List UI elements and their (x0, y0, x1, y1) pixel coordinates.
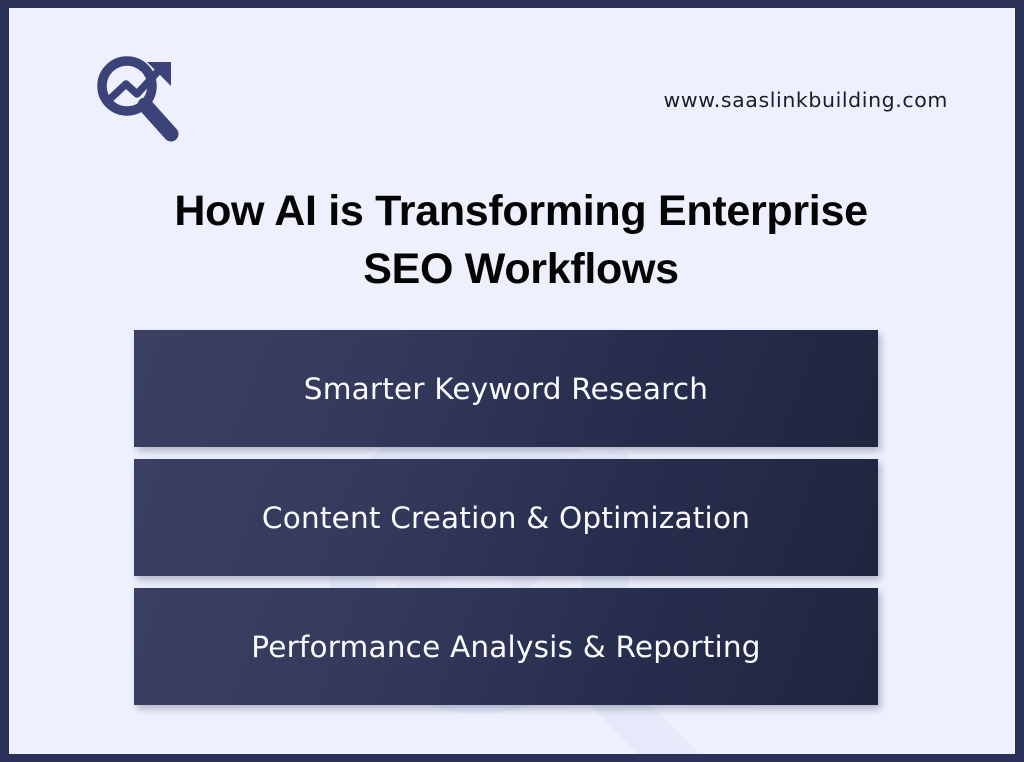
workflow-bar-label: Smarter Keyword Research (304, 372, 708, 406)
workflow-bar[interactable]: Smarter Keyword Research (134, 330, 878, 447)
page-title: How AI is Transforming Enterprise SEO Wo… (148, 182, 894, 298)
poster-canvas: www.saaslinkbuilding.com How AI is Trans… (9, 8, 1015, 754)
workflow-bar-label: Content Creation & Optimization (262, 501, 750, 535)
magnifier-growth-arrow-icon (91, 52, 187, 144)
workflow-bar-list: Smarter Keyword Research Content Creatio… (134, 330, 896, 705)
page-title-line-2: SEO Workflows (363, 245, 678, 293)
page-title-line-1: How AI is Transforming Enterprise (174, 187, 867, 235)
workflow-bar-label: Performance Analysis & Reporting (251, 630, 760, 664)
workflow-bar[interactable]: Performance Analysis & Reporting (134, 588, 878, 705)
site-url: www.saaslinkbuilding.com (664, 88, 948, 112)
workflow-bar[interactable]: Content Creation & Optimization (134, 459, 878, 576)
header: www.saaslinkbuilding.com (9, 8, 1015, 158)
poster-frame: www.saaslinkbuilding.com How AI is Trans… (0, 0, 1024, 762)
